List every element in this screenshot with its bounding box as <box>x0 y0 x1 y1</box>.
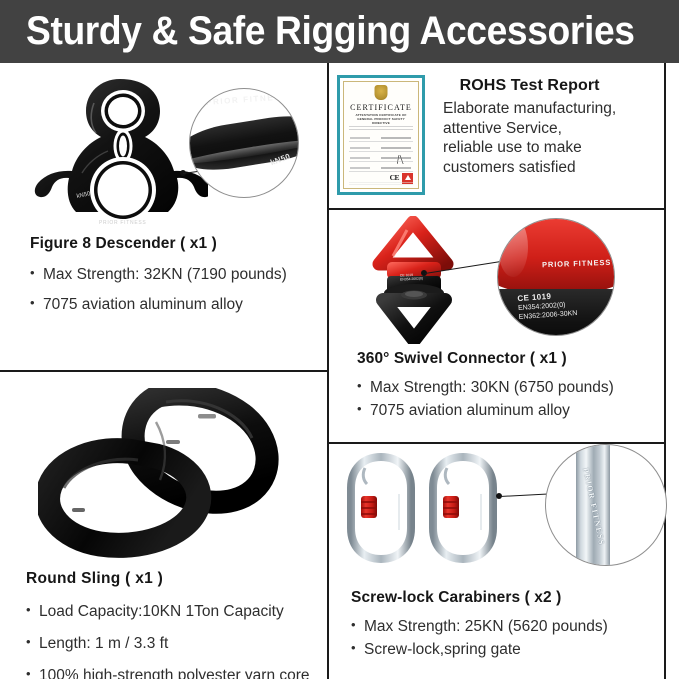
panel-figure8-descender: kN50 PRIOR FITNESS PRIOR FITNESS kN50 Fi… <box>0 63 327 370</box>
figure8-title: Figure 8 Descender ( x1 ) <box>30 235 325 253</box>
figure8-magnifier-bubble: PRIOR FITNESS kN50 <box>189 88 299 198</box>
swivel-text-block: 360° Swivel Connector ( x1 ) Max Strengt… <box>357 350 672 424</box>
list-item: Max Strength: 30KN (6750 pounds) <box>357 378 672 397</box>
descender-band-closeup <box>189 110 299 177</box>
sling-spec-list: Load Capacity:10KN 1Ton Capacity Length:… <box>26 602 328 679</box>
panel-screwlock-carabiners: PRIOR FITNESS Screw-lock Carabiners ( x2… <box>329 444 679 679</box>
carabiner-image-1 <box>343 452 419 564</box>
panel-swivel-connector: CE 1019 EN354:2002(0) PRIOR FITNESS CE 1… <box>329 210 679 442</box>
swivel-magnifier-bubble: PRIOR FITNESS CE 1019 EN354:2002(0) EN36… <box>497 218 615 336</box>
carabiner-spec-list: Max Strength: 25KN (5620 pounds) Screw-l… <box>351 617 676 659</box>
carabiner-callout-leader <box>500 493 548 497</box>
page-title: Sturdy & Safe Rigging Accessories <box>26 9 635 54</box>
carabiner-image-2 <box>425 452 501 564</box>
right-column: CERTIFICATE ATTESTATION CERTIFICATE OF G… <box>329 63 679 679</box>
swivel-connector-image: CE 1019 EN354:2002(0) <box>347 216 487 344</box>
sling-text-block: Round Sling ( x1 ) Load Capacity:10KN 1T… <box>26 570 328 679</box>
figure8-text-block: Figure 8 Descender ( x1 ) Max Strength: … <box>30 235 325 325</box>
rohs-line: attentive Service, <box>443 119 616 139</box>
content-area: kN50 PRIOR FITNESS PRIOR FITNESS kN50 Fi… <box>0 63 679 679</box>
list-item: 7075 aviation aluminum alloy <box>30 295 325 314</box>
figure8-spec-list: Max Strength: 32KN (7190 pounds) 7075 av… <box>30 265 325 314</box>
swivel-red-cap-closeup <box>497 218 615 295</box>
list-item: Max Strength: 32KN (7190 pounds) <box>30 265 325 284</box>
infographic-page: Sturdy & Safe Rigging Accessories <box>0 0 679 679</box>
list-item: 100% high-strength polyester yarn core <box>26 666 328 679</box>
standards-engraving-text: CE 1019 EN354:2002(0) EN362:2006-30KN <box>517 290 578 323</box>
swivel-body-marking: CE 1019 EN354:2002(0) <box>400 272 423 282</box>
list-item: 7075 aviation aluminum alloy <box>357 401 672 420</box>
certificate-seal-icon <box>375 85 388 100</box>
list-item: Load Capacity:10KN 1Ton Capacity <box>26 602 328 621</box>
certificate-heading: CERTIFICATE <box>344 103 418 112</box>
list-item: Max Strength: 25KN (5620 pounds) <box>351 617 676 636</box>
certificate-signature <box>388 155 410 164</box>
certificate-image: CERTIFICATE ATTESTATION CERTIFICATE OF G… <box>337 75 425 195</box>
round-sling-image <box>38 388 288 558</box>
carabiner-magnifier-bubble: PRIOR FITNESS <box>545 444 667 566</box>
carabiner-text-block: Screw-lock Carabiners ( x2 ) Max Strengt… <box>351 589 676 663</box>
rohs-line: Elaborate manufacturing, <box>443 99 616 119</box>
swivel-spec-list: Max Strength: 30KN (6750 pounds) 7075 av… <box>357 378 672 420</box>
header-banner: Sturdy & Safe Rigging Accessories <box>0 0 679 63</box>
swivel-title: 360° Swivel Connector ( x1 ) <box>357 350 672 368</box>
rohs-text-block: ROHS Test Report Elaborate manufacturing… <box>443 75 616 177</box>
rohs-line: customers satisfied <box>443 158 616 178</box>
list-item: Length: 1 m / 3.3 ft <box>26 634 328 653</box>
panel-rohs-test-report: CERTIFICATE ATTESTATION CERTIFICATE OF G… <box>329 63 679 208</box>
sling-title: Round Sling ( x1 ) <box>26 570 328 588</box>
svg-text:PRIOR FITNESS: PRIOR FITNESS <box>99 220 146 226</box>
list-item: Screw-lock,spring gate <box>351 640 676 659</box>
certificate-subtitle: ATTESTATION CERTIFICATE OF GENERAL PRODU… <box>348 113 414 126</box>
rohs-line: reliable use to make <box>443 138 616 158</box>
carabiner-title: Screw-lock Carabiners ( x2 ) <box>351 589 676 607</box>
left-column: kN50 PRIOR FITNESS PRIOR FITNESS kN50 Fi… <box>0 63 327 679</box>
ce-mark-icon: CE <box>390 173 399 182</box>
panel-round-sling: Round Sling ( x1 ) Load Capacity:10KN 1T… <box>0 372 327 679</box>
rohs-heading: ROHS Test Report <box>443 77 616 95</box>
brand-engraving-text: PRIOR FITNESS <box>206 92 289 107</box>
figure8-descender-image: kN50 PRIOR FITNESS <box>28 73 208 228</box>
